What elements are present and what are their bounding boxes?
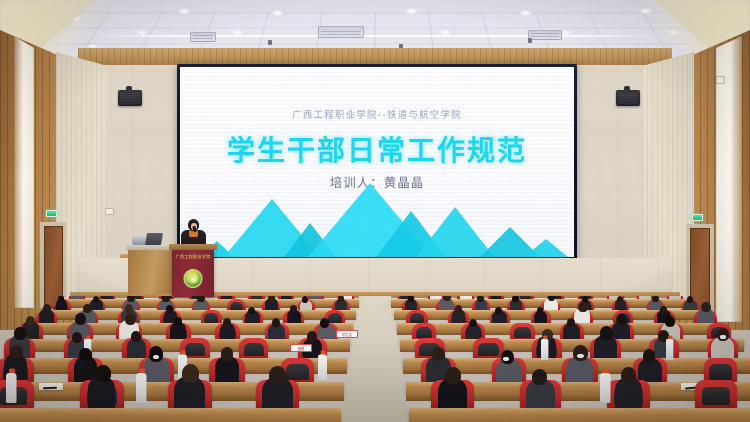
ceiling-air-vent (190, 32, 216, 42)
wall-outlet-plate-right (716, 76, 725, 84)
audience-head (307, 331, 317, 342)
projection-screen-bezel: 广西工程职业学院--铁道与航空学院 学生干部日常工作规范 培训人：黄晶晶 (177, 64, 577, 260)
audience-head (197, 296, 204, 302)
water-bottle (318, 355, 327, 381)
auditorium-seat (695, 380, 737, 410)
audience-head (643, 349, 656, 363)
ceiling-downlight (520, 10, 531, 16)
audience-head (290, 305, 297, 313)
school-crest-icon (184, 269, 203, 288)
ceiling-downlight (232, 30, 243, 35)
audience-head (79, 348, 92, 362)
audience-head (532, 369, 547, 385)
audience-head (43, 304, 51, 313)
ceiling-downlight (272, 10, 283, 16)
face-mask (503, 357, 509, 361)
desk-name-card: 团委 (290, 344, 312, 352)
audience-head (600, 326, 613, 340)
exit-sign-icon-right (692, 214, 703, 221)
mountain-triangle (524, 239, 568, 257)
wall-outlet-plate-left (105, 208, 114, 215)
lecture-desk (409, 408, 750, 422)
audience-head (512, 296, 519, 302)
audience-head (162, 296, 169, 302)
audience-head (495, 307, 502, 315)
speaker-mount-left (126, 86, 132, 90)
ceiling-sensor-icon (528, 38, 532, 43)
av-table (128, 248, 174, 294)
ceiling-air-vent (318, 26, 364, 38)
wall-speaker-right (616, 90, 640, 106)
slide-subtitle: 广西工程职业学院--铁道与航空学院 (180, 107, 574, 121)
audience-head (445, 367, 461, 384)
face-mask (720, 335, 726, 339)
audience-head (320, 318, 329, 328)
water-bottle (6, 373, 17, 403)
speaker-mount-right (624, 86, 630, 90)
ceiling-sensor-icon (268, 40, 272, 45)
audience-head (223, 318, 231, 327)
audience-head (221, 347, 234, 361)
wall-speaker-left (118, 90, 142, 106)
ceiling-seam (90, 35, 660, 37)
audience-head (621, 367, 636, 383)
auditorium-seat (473, 338, 504, 360)
desk-name-card: 学生会 (336, 330, 358, 338)
auditorium-seat (239, 338, 268, 360)
audience-head (432, 347, 445, 361)
water-bottle (541, 339, 548, 360)
podium-plaque-text: 广西工程职业学院 (175, 253, 211, 261)
audience-head (125, 304, 133, 313)
audience-seating-area: 学生会团委 (0, 296, 750, 422)
audience-head (131, 331, 141, 342)
audience-head (10, 345, 23, 360)
slide-title: 学生干部日常工作规范 (180, 129, 574, 169)
audience-head (701, 302, 711, 313)
lecture-desk (0, 408, 341, 422)
audience-head (578, 302, 588, 312)
projection-screen[interactable]: 广西工程职业学院--铁道与航空学院 学生干部日常工作规范 培训人：黄晶晶 (180, 67, 574, 257)
water-bottle (600, 373, 611, 403)
audience-head (95, 365, 111, 382)
audience-head (269, 366, 286, 384)
audience-head (537, 307, 544, 314)
audience-head (272, 318, 280, 327)
audience-head (408, 296, 414, 302)
audience-head (248, 307, 255, 315)
audience-head (687, 296, 693, 303)
audience-head (14, 327, 26, 340)
ceiling-air-vent (528, 30, 562, 40)
ceiling-downlight (440, 30, 451, 35)
audience-head (125, 313, 136, 325)
audience-head (617, 314, 628, 325)
wood-trim-band (78, 48, 672, 65)
audience-head (93, 296, 100, 303)
audience-head (268, 296, 275, 302)
exit-sign-icon-left (46, 210, 57, 217)
ceiling-downlight (405, 8, 417, 14)
ceiling-downlight (136, 30, 147, 35)
audience-head (477, 296, 484, 302)
audience-head (72, 332, 82, 343)
lecture-desk (400, 339, 744, 348)
water-bottle (136, 373, 147, 403)
podium: 广西工程职业学院 (172, 249, 214, 297)
audience-head (174, 317, 183, 327)
audience-head (455, 305, 463, 313)
ceiling-downlight (178, 8, 190, 14)
desk-apron (400, 348, 744, 352)
audience-head (567, 318, 576, 328)
slide-mountain-graphic (180, 179, 574, 257)
audience-head (166, 305, 173, 313)
auditorium-scene: 广西工程职业学院--铁道与航空学院 学生干部日常工作规范 培训人：黄晶晶 广西工… (0, 0, 750, 422)
audience-head (469, 319, 477, 328)
audience-head (338, 296, 345, 302)
audience-head (83, 304, 92, 314)
audience-head (182, 364, 200, 383)
audience-head (665, 316, 675, 327)
av-laptop[interactable] (145, 233, 163, 245)
podium-top-surface (169, 244, 217, 250)
water-bottle (666, 339, 673, 360)
window-light-left (14, 36, 34, 308)
